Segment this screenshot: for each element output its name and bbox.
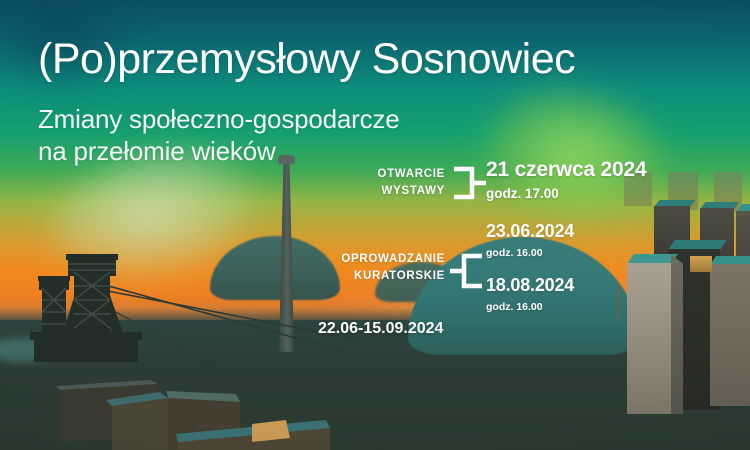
tower-block-near-light xyxy=(627,254,671,414)
event-tour-time-1: godz. 16.00 xyxy=(486,247,574,259)
tower-block-near-right xyxy=(710,256,750,406)
subtitle: Zmiany społeczno-gospodarcze na przełomi… xyxy=(38,104,399,167)
event-tour-label-line-2: KURATORSKIE xyxy=(310,268,445,285)
subtitle-line-2: na przełomie wieków xyxy=(38,136,399,168)
event-tour-label-line-1: OPROWADZANIE xyxy=(310,251,445,268)
event-tour-time-2: godz. 16.00 xyxy=(486,301,574,313)
event-opening-label-line-1: OTWARCIE xyxy=(330,166,445,183)
event-tour-entry-2: 18.08.2024 godz. 16.00 xyxy=(486,275,574,313)
distant-chimney-silhouette xyxy=(617,284,620,322)
event-opening-label-line-2: WYSTAWY xyxy=(330,183,445,200)
event-tour-date-1: 23.06.2024 xyxy=(486,221,574,242)
subtitle-line-1: Zmiany społeczno-gospodarcze xyxy=(38,104,399,136)
event-tour-entry-1: 23.06.2024 godz. 16.00 xyxy=(486,221,574,259)
event-opening-label: OTWARCIE WYSTAWY xyxy=(330,166,445,199)
exhibition-date-range: 22.06-15.09.2024 xyxy=(318,320,443,338)
event-opening-time: godz. 17.00 xyxy=(486,186,646,201)
bracket-tour-icon xyxy=(450,253,484,289)
event-opening-details: 21 czerwca 2024 godz. 17.00 xyxy=(486,158,646,201)
tower-rooftop-box xyxy=(690,256,712,272)
foreground-building-blocks xyxy=(0,358,330,450)
tower-block-mid-3 xyxy=(736,204,750,264)
event-tour-date-2: 18.08.2024 xyxy=(486,275,574,296)
bracket-opening-icon xyxy=(452,166,486,200)
page-title: (Po)przemysłowy Sosnowiec xyxy=(38,38,575,81)
poster-canvas: (Po)przemysłowy Sosnowiec Zmiany społecz… xyxy=(0,0,750,450)
event-opening-date: 21 czerwca 2024 xyxy=(486,158,646,182)
event-tour-label: OPROWADZANIE KURATORSKIE xyxy=(310,251,445,284)
mine-headframe-silhouette xyxy=(28,242,154,362)
